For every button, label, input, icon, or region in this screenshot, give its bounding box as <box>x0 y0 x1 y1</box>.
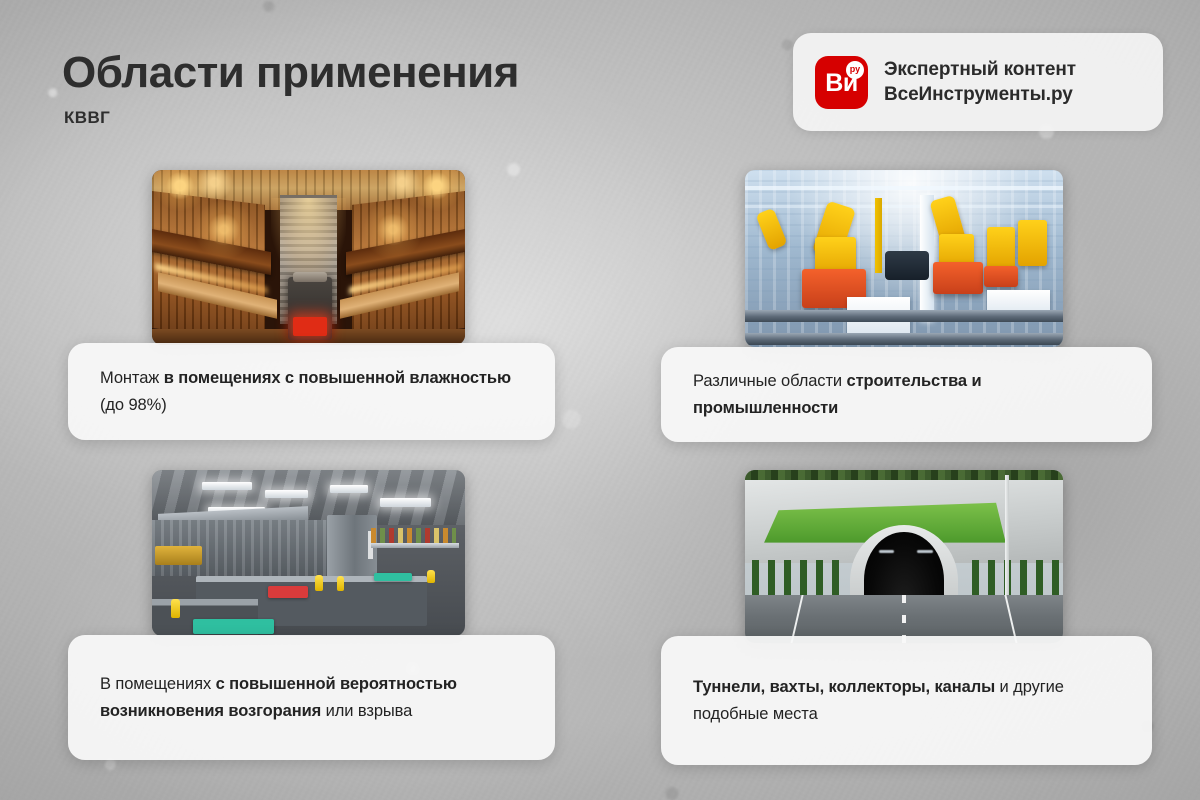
kitchen-wall-shelf <box>371 543 459 548</box>
robot-arm-right-1 <box>987 227 1016 269</box>
brand-line-1: Экспертный контент <box>884 59 1076 81</box>
brand-badge[interactable]: Ви ру Экспертный контент ВсеИнструменты.… <box>793 33 1163 131</box>
factory-yellow-column <box>875 198 882 272</box>
kitchen-cutting-board-green-2 <box>374 573 412 581</box>
factory-conveyor-rail-2 <box>745 333 1063 345</box>
robotic-assembly-line-photo <box>745 170 1063 347</box>
kitchen-ceiling-light-4 <box>380 498 430 506</box>
block-tunnels: Туннели, вахты, коллекторы, каналы и дру… <box>0 0 318 173</box>
tunnel-lamp-post <box>1005 475 1008 601</box>
kitchen-squeeze-bottle-1 <box>171 599 180 617</box>
factory-ceiling-beam-1 <box>745 186 1063 190</box>
kitchen-cutting-board-green <box>193 619 274 634</box>
logo-ru-superscript-icon: ру <box>846 61 864 79</box>
workpiece-dark <box>885 251 930 279</box>
caption-card-humidity: Монтаж в помещениях с повышенной влажнос… <box>68 343 555 440</box>
slide-canvas: Области применения КВВГ Ви ру Экспертный… <box>0 0 1200 800</box>
kitchen-ceiling-light-2 <box>265 490 309 498</box>
caption-card-fire: В помещениях с повышенной вероятностью в… <box>68 635 555 760</box>
vseinstrumenty-logo-icon: Ви ру <box>815 56 868 109</box>
robot-base-right-1 <box>984 266 1019 287</box>
caption-card-industry: Различные области строительства и промыш… <box>661 347 1152 442</box>
factory-conveyor-rail-1 <box>745 310 1063 322</box>
kitchen-squeeze-bottle-3 <box>337 576 345 591</box>
caption-text-industry: Различные области строительства и промыш… <box>693 368 1120 422</box>
kitchen-squeeze-bottle-4 <box>427 570 435 583</box>
brand-line-2: ВсеИнструменты.ру <box>884 84 1076 106</box>
commercial-kitchen-photo <box>152 470 465 636</box>
brand-text-block: Экспертный контент ВсеИнструменты.ру <box>884 59 1076 106</box>
kitchen-gold-cabinet <box>155 546 202 564</box>
factory-ceiling-beam-2 <box>745 205 1063 208</box>
caption-text-humidity: Монтаж в помещениях с повышенной влажнос… <box>100 365 523 419</box>
caption-text-fire: В помещениях с повышенной вероятностью в… <box>100 671 523 725</box>
tunnel-interior-lamp-1 <box>879 550 895 554</box>
caption-text-tunnels: Туннели, вахты, коллекторы, каналы и дру… <box>693 674 1120 728</box>
kitchen-condiment-bottles <box>371 528 456 543</box>
sauna-stove-glow <box>293 317 327 336</box>
kitchen-squeeze-bottle-2 <box>315 575 323 592</box>
kitchen-cutting-board-red <box>268 586 309 598</box>
road-tunnel-photo <box>745 470 1063 643</box>
robot-arm-right-2 <box>1018 220 1047 266</box>
caption-card-tunnels: Туннели, вахты, коллекторы, каналы и дру… <box>661 636 1152 765</box>
kitchen-ceiling-light-1 <box>202 482 252 490</box>
robot-base-mid <box>933 262 984 294</box>
sauna-interior-photo <box>152 170 465 345</box>
kitchen-ceiling-light-3 <box>330 485 368 493</box>
tunnel-interior-lamp-2 <box>917 550 933 554</box>
